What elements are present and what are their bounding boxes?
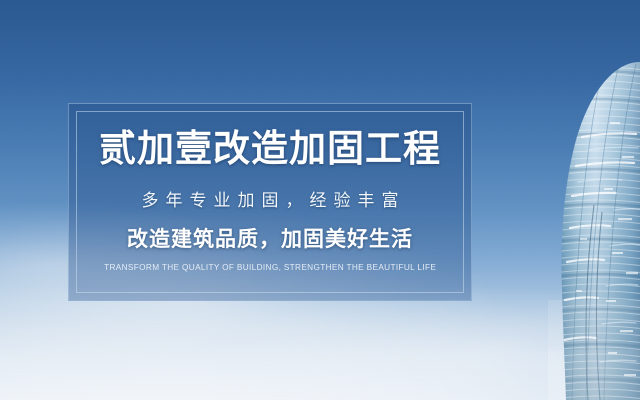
slogan-text: 改造建筑品质，加固美好生活 <box>127 229 413 250</box>
subtitle-text: 多年专业加固，经验丰富 <box>135 192 406 209</box>
page-title: 贰加壹改造加固工程 <box>99 130 441 167</box>
hero-text-panel: 贰加壹改造加固工程 多年专业加固，经验丰富 改造建筑品质，加固美好生活 TRAN… <box>68 103 472 301</box>
english-tagline: TRANSFORM THE QUALITY OF BUILDING, STREN… <box>104 263 436 272</box>
skyscraper-icon <box>518 0 640 400</box>
promo-banner: 贰加壹改造加固工程 多年专业加固，经验丰富 改造建筑品质，加固美好生活 TRAN… <box>0 0 640 400</box>
panel-content: 贰加壹改造加固工程 多年专业加固，经验丰富 改造建筑品质，加固美好生活 TRAN… <box>69 104 471 300</box>
skyscraper-photo <box>518 0 640 400</box>
